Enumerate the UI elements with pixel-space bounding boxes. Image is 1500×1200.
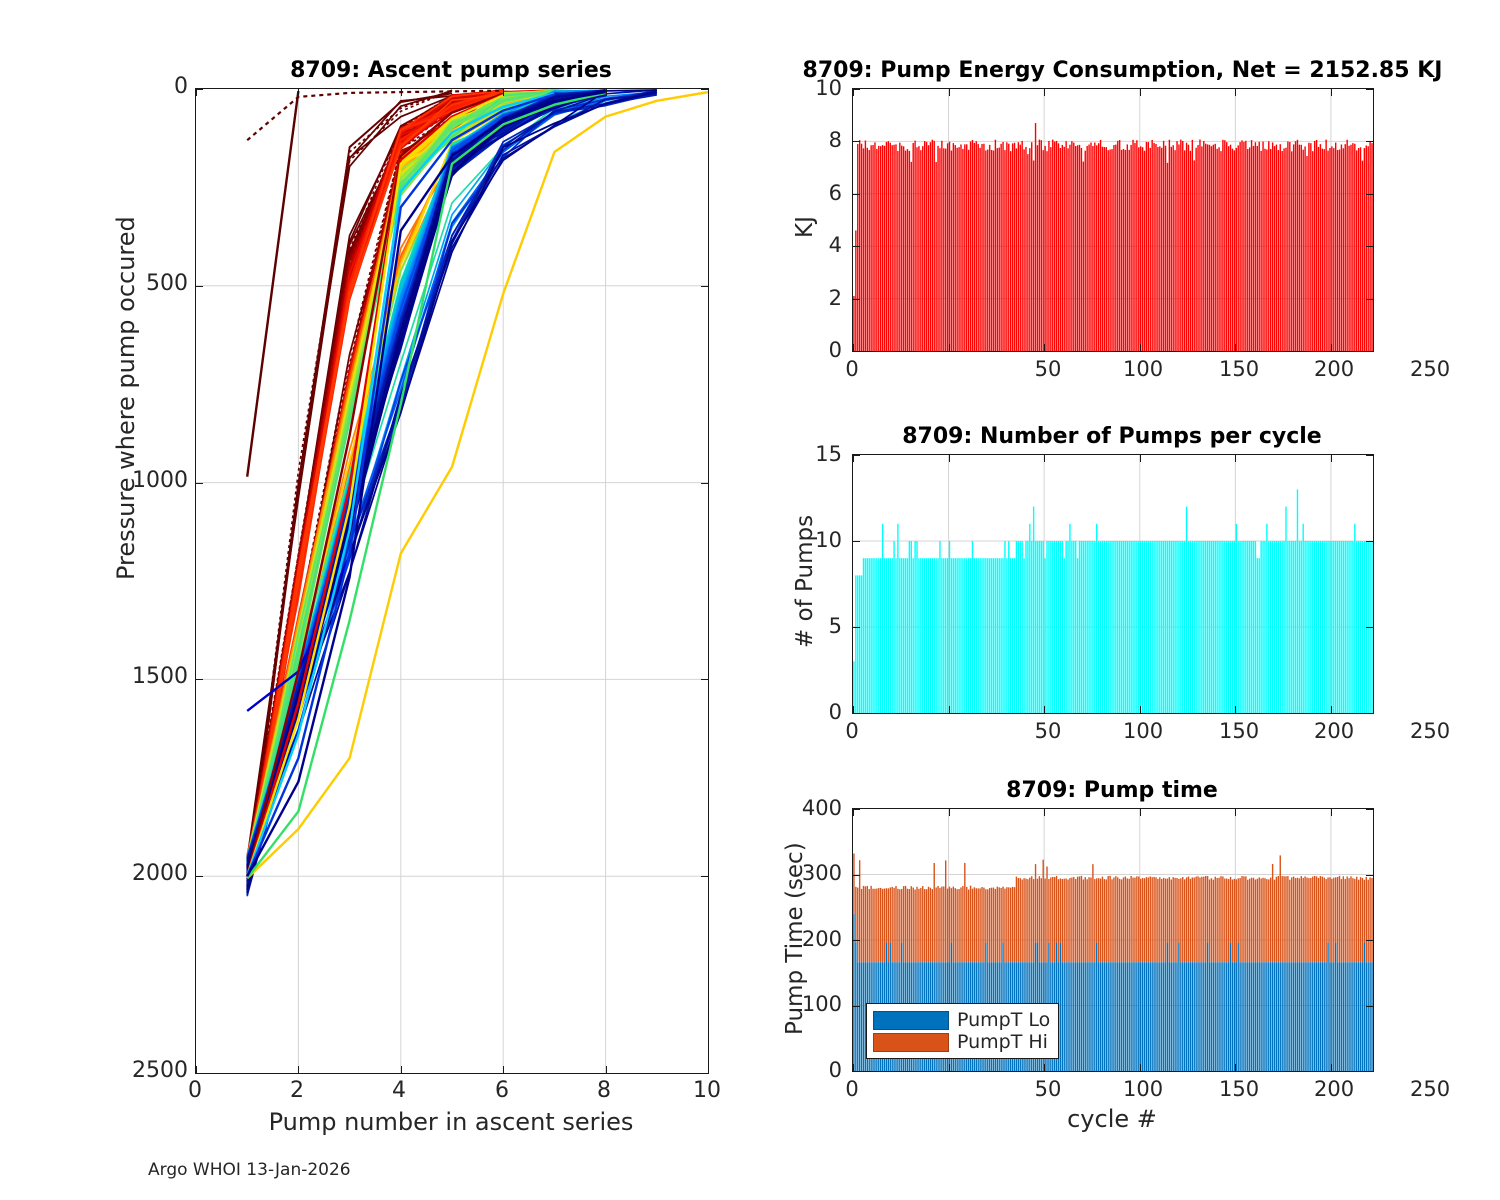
legend-label-pumpt-lo: PumpT Lo [957, 1009, 1050, 1031]
xtick-6: 6 [482, 1078, 522, 1103]
xtick-4: 4 [379, 1078, 419, 1103]
ytick-1500: 1500 [108, 664, 188, 689]
time-ytick-400: 400 [786, 796, 842, 820]
pump-energy-plot [852, 88, 1374, 352]
ytick-0: 0 [150, 74, 188, 99]
pumps-xtick-100: 100 [1123, 719, 1163, 743]
xtick-8: 8 [584, 1078, 624, 1103]
pumps-xtick-50: 50 [1028, 719, 1068, 743]
ascent-pump-series-title: 8709: Ascent pump series [195, 58, 707, 83]
legend-label-pumpt-hi: PumpT Hi [957, 1031, 1048, 1053]
energy-ytick-10: 10 [796, 76, 842, 100]
figure-caption: Argo WHOI 13-Jan-2026 [148, 1160, 351, 1180]
energy-ytick-8: 8 [796, 128, 842, 152]
energy-xtick-250: 250 [1410, 357, 1450, 381]
time-xtick-50: 50 [1028, 1077, 1068, 1101]
time-xtick-100: 100 [1123, 1077, 1163, 1101]
pumps-xtick-200: 200 [1314, 719, 1354, 743]
pump-time-legend: PumpT Lo PumpT Hi [866, 1003, 1059, 1059]
pumps-xtick-250: 250 [1410, 719, 1450, 743]
time-yaxis-label: Pump Time (sec) [782, 842, 808, 1035]
pumps-xtick-0: 0 [832, 719, 872, 743]
xtick-2: 2 [277, 1078, 317, 1103]
ascent-yaxis-label: Pressure where pump occured [112, 216, 140, 580]
pumps-yaxis-label: # of Pumps [792, 515, 818, 648]
energy-yaxis-label: KJ [792, 216, 818, 238]
energy-xtick-0: 0 [832, 357, 872, 381]
legend-entry-pumpt-lo: PumpT Lo [873, 1009, 1050, 1031]
energy-ytick-2: 2 [796, 286, 842, 310]
pump-time-title: 8709: Pump time [852, 778, 1372, 803]
time-xaxis-label: cycle # [852, 1105, 1372, 1133]
pump-energy-title: 8709: Pump Energy Consumption, Net = 215… [760, 58, 1485, 83]
ascent-pump-series-plot [195, 88, 709, 1074]
pumps-xtick-150: 150 [1219, 719, 1259, 743]
energy-xtick-100: 100 [1123, 357, 1163, 381]
time-xtick-150: 150 [1219, 1077, 1259, 1101]
legend-entry-pumpt-hi: PumpT Hi [873, 1031, 1050, 1053]
pumps-per-cycle-title: 8709: Number of Pumps per cycle [852, 424, 1372, 449]
energy-xtick-50: 50 [1028, 357, 1068, 381]
energy-ytick-6: 6 [796, 181, 842, 205]
energy-xtick-150: 150 [1219, 357, 1259, 381]
time-xtick-200: 200 [1314, 1077, 1354, 1101]
pumps-per-cycle-plot [852, 454, 1374, 714]
time-xtick-0: 0 [832, 1077, 872, 1101]
ytick-2000: 2000 [108, 861, 188, 886]
ascent-xaxis-label: Pump number in ascent series [195, 1108, 707, 1136]
legend-swatch-pumpt-hi [873, 1033, 949, 1052]
xtick-0: 0 [175, 1078, 215, 1103]
xtick-10: 10 [687, 1078, 727, 1103]
figure-canvas: 8709: Ascent pump series 0 500 1000 1500… [0, 0, 1500, 1200]
energy-xtick-200: 200 [1314, 357, 1354, 381]
time-xtick-250: 250 [1410, 1077, 1450, 1101]
legend-swatch-pumpt-lo [873, 1011, 949, 1030]
pumps-ytick-15: 15 [796, 442, 842, 466]
